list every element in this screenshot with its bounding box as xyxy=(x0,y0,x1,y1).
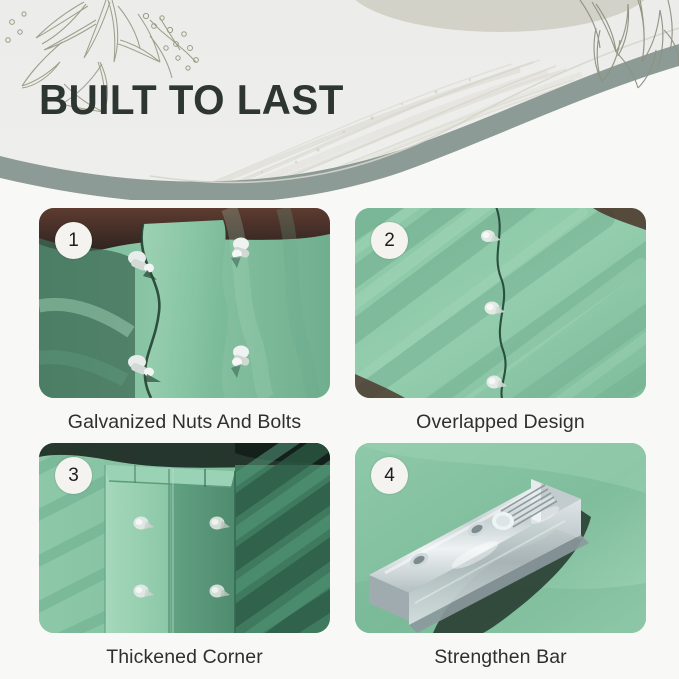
feature-image-3: 3 xyxy=(39,443,330,633)
feature-caption-4: Strengthen Bar xyxy=(355,646,646,669)
feature-caption-3: Thickened Corner xyxy=(39,646,330,669)
feature-card-1[interactable]: 1 Galvanized Nuts And Bolts xyxy=(39,208,330,434)
feature-badge-1: 1 xyxy=(55,222,92,259)
feature-image-1: 1 xyxy=(39,208,330,398)
feature-badge-2: 2 xyxy=(371,222,408,259)
header-banner: BUILT TO LAST xyxy=(0,0,679,200)
feature-card-3[interactable]: 3 Thickened Corner xyxy=(39,443,330,669)
feature-card-4[interactable]: 4 Strengthen Bar xyxy=(355,443,646,669)
page-root: BUILT TO LAST xyxy=(0,0,679,679)
feature-image-4: 4 xyxy=(355,443,646,633)
feature-badge-4: 4 xyxy=(371,457,408,494)
feature-grid: 1 Galvanized Nuts And Bolts xyxy=(0,200,679,679)
feature-caption-1: Galvanized Nuts And Bolts xyxy=(39,411,330,434)
feature-card-2[interactable]: 2 Overlapped Design xyxy=(355,208,646,434)
page-title: BUILT TO LAST xyxy=(39,79,344,121)
feature-caption-2: Overlapped Design xyxy=(355,411,646,434)
feature-image-2: 2 xyxy=(355,208,646,398)
feature-badge-3: 3 xyxy=(55,457,92,494)
